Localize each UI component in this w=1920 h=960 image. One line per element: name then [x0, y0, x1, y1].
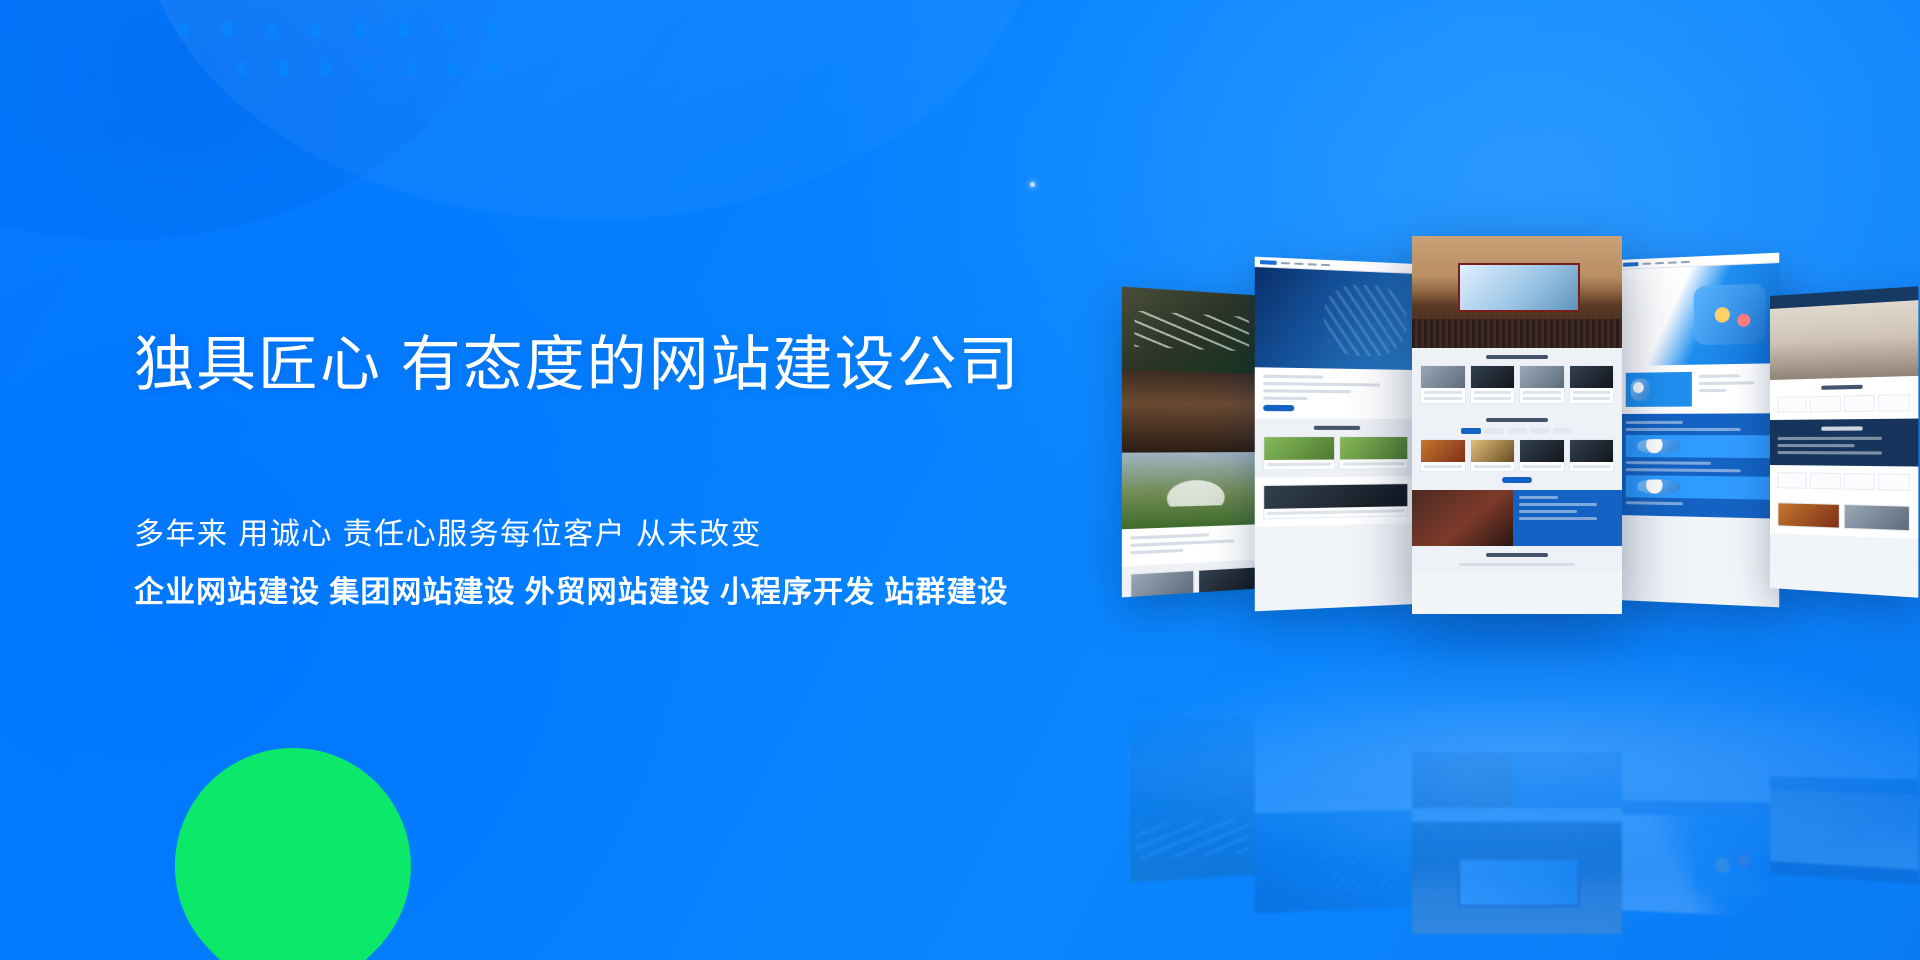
pattern-dot [355, 22, 365, 37]
dot-grid-pattern [178, 22, 498, 84]
mockup-section [1122, 559, 1266, 597]
mockup-section-products [1412, 411, 1622, 490]
pattern-dot [280, 61, 288, 76]
screen-auditorium-center [1412, 236, 1622, 614]
hero-headline: 独具匠心 有态度的网站建设公司 [134, 330, 1134, 400]
pattern-dot [267, 22, 277, 37]
mockup-section [1618, 363, 1779, 414]
pattern-dot [399, 22, 409, 37]
hero-subline-2: 企业网站建设 集团网站建设 外贸网站建设 小程序开发 站群建设 [134, 578, 1134, 608]
mockup-hero-image [1770, 286, 1918, 380]
mockup-section-stage-products [1412, 546, 1622, 573]
website-mockup-collage [1130, 230, 1920, 690]
mockup-section-reason [1770, 419, 1918, 467]
pattern-dot [448, 61, 456, 76]
pattern-dot [322, 61, 330, 76]
mockup-section-company [1412, 490, 1622, 546]
mockup-section [1255, 418, 1416, 477]
green-accent-shape [126, 699, 460, 960]
pattern-dot [406, 61, 414, 76]
mockup-section [1770, 495, 1918, 539]
screen-industrial-blue [1255, 257, 1416, 612]
mockup-hero-image [1412, 236, 1622, 348]
mockup-section [1770, 465, 1918, 499]
pattern-dot [364, 61, 372, 76]
hero-banner: 独具匠心 有态度的网站建设公司 多年来 用诚心 责任心服务每位客户 从未改变 企… [0, 0, 1920, 960]
screen-education-illustration [1618, 253, 1779, 608]
mockup-hero-image [1122, 370, 1266, 453]
pattern-dot [178, 22, 188, 37]
pattern-dot [490, 61, 498, 76]
mockup-hero-image [1122, 452, 1266, 529]
hero-subline-1: 多年来 用诚心 责任心服务每位客户 从未改变 [134, 520, 1134, 550]
pattern-dot [444, 22, 454, 37]
sparkle-dot [305, 778, 308, 781]
mockup-hero-image [1255, 267, 1416, 370]
screen-aerial-projects [1122, 287, 1266, 598]
mockup-section [1255, 367, 1416, 419]
mockup-section-advantages [1412, 348, 1622, 411]
background-ellipse-dark [0, 0, 500, 240]
screen-interior-design [1770, 286, 1918, 597]
pattern-dot [222, 22, 232, 37]
highlight-ellipse [140, 0, 1040, 220]
mockup-section [1618, 413, 1779, 518]
mockup-hero-image [1618, 263, 1779, 366]
mockup-hero-image [1122, 287, 1266, 374]
hero-sublines: 多年来 用诚心 责任心服务每位客户 从未改变 企业网站建设 集团网站建设 外贸网… [134, 520, 1134, 608]
mockup-section [1255, 476, 1416, 527]
dot-grid-row [238, 61, 498, 76]
sparkle-dot [1030, 182, 1035, 187]
hero-copy: 独具匠心 有态度的网站建设公司 多年来 用诚心 责任心服务每位客户 从未改变 企… [134, 330, 1134, 608]
pattern-dot [311, 22, 321, 37]
pattern-dot [488, 22, 498, 37]
pattern-dot [238, 61, 246, 76]
mockup-section-design [1770, 376, 1918, 420]
mockup-reflection [1130, 690, 1920, 940]
dot-grid-row [178, 22, 498, 37]
